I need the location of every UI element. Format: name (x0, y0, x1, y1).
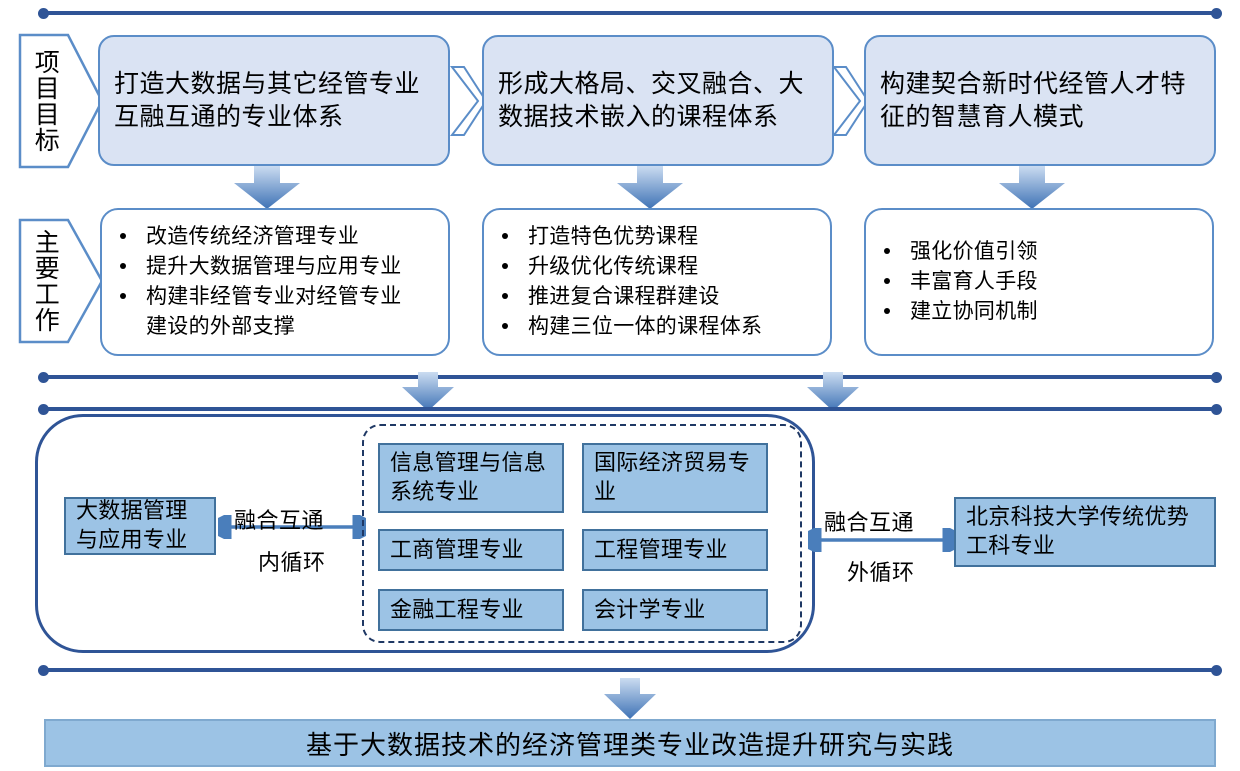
work-box-2[interactable]: 打造特色优势课程 升级优化传统课程 推进复合课程群建设 构建三位一体的课程体系 (482, 208, 832, 356)
major-box-financial-eng[interactable]: 金融工程专业 (378, 589, 564, 631)
divider-dot-third-right (1211, 404, 1222, 415)
divider-dot-bottom-right (1211, 665, 1222, 676)
goal-box-1-text: 打造大数据与其它经管专业互融互通的专业体系 (114, 68, 434, 134)
divider-dot-second-right (1211, 372, 1222, 383)
list-item: 强化价值引领 (876, 237, 1202, 267)
major-box-ustb-engineering-text: 北京科技大学传统优势工科专业 (966, 503, 1204, 560)
major-box-big-data[interactable]: 大数据管理与应用专业 (64, 497, 216, 555)
bullet-icon (502, 233, 508, 239)
divider-dot-second-left (38, 372, 49, 383)
work-item-text: 升级优化传统课程 (528, 255, 698, 278)
divider-rule-second (44, 375, 1216, 379)
work-item-text: 丰富育人手段 (910, 270, 1038, 293)
list-item: 建立协同机制 (876, 297, 1202, 327)
work-item-text: 构建三位一体的课程体系 (528, 315, 762, 338)
major-box-intl-trade[interactable]: 国际经济贸易专业 (582, 443, 768, 513)
major-box-financial-eng-text: 金融工程专业 (390, 596, 524, 625)
list-item: 升级优化传统课程 (494, 252, 820, 282)
goal-box-2[interactable]: 形成大格局、交叉融合、大数据技术嵌入的课程体系 (482, 35, 834, 166)
major-box-intl-trade-text: 国际经济贸易专业 (594, 449, 756, 506)
major-box-engineering-mgmt-text: 工程管理专业 (594, 536, 728, 565)
major-box-accounting-text: 会计学专业 (594, 596, 706, 625)
list-item: 建设的外部支撑 (112, 312, 438, 342)
outer-link-label-bottom: 外循环 (847, 555, 915, 587)
list-item: 推进复合课程群建设 (494, 282, 820, 312)
list-item: 打造特色优势课程 (494, 222, 820, 252)
outer-link-label-top: 融合互通 (824, 505, 914, 537)
goal-box-2-text: 形成大格局、交叉融合、大数据技术嵌入的课程体系 (498, 68, 818, 134)
down-arrow-banner (602, 678, 658, 725)
work-item-text: 推进复合课程群建设 (528, 285, 720, 308)
bullet-icon (120, 233, 126, 239)
divider-dot-bottom-left (38, 665, 49, 676)
divider-dot-top-right (1211, 8, 1222, 19)
work-item-text: 构建非经管专业对经管专业 (146, 285, 402, 308)
divider-dot-third-left (38, 404, 49, 415)
bottom-banner[interactable]: 基于大数据技术的经济管理类专业改造提升研究与实践 (44, 719, 1216, 767)
work-list-2: 打造特色优势课程 升级优化传统课程 推进复合课程群建设 构建三位一体的课程体系 (494, 222, 820, 341)
goal-box-1[interactable]: 打造大数据与其它经管专业互融互通的专业体系 (98, 35, 450, 166)
work-list-1: 改造传统经济管理专业 提升大数据管理与应用专业 构建非经管专业对经管专业 建设的… (112, 222, 438, 341)
divider-rule-bottom (44, 668, 1216, 672)
bullet-icon (502, 323, 508, 329)
bullet-icon (884, 278, 890, 284)
major-box-big-data-text: 大数据管理与应用专业 (76, 497, 204, 554)
bullet-icon (884, 308, 890, 314)
bullet-icon (502, 263, 508, 269)
major-box-business-admin-text: 工商管理专业 (390, 536, 524, 565)
divider-dot-top-left (38, 8, 49, 19)
inner-link-label-bottom: 内循环 (258, 545, 326, 577)
list-item: 丰富育人手段 (876, 267, 1202, 297)
work-item-text: 改造传统经济管理专业 (146, 225, 359, 248)
work-box-1[interactable]: 改造传统经济管理专业 提升大数据管理与应用专业 构建非经管专业对经管专业 建设的… (100, 208, 450, 356)
work-item-text: 打造特色优势课程 (528, 225, 698, 248)
goal-box-3-text: 构建契合新时代经管人才特征的智慧育人模式 (880, 68, 1200, 134)
work-item-text: 提升大数据管理与应用专业 (146, 255, 402, 278)
bullet-icon (120, 293, 126, 299)
list-item: 构建非经管专业对经管专业 (112, 282, 438, 312)
work-item-text: 强化价值引领 (910, 240, 1038, 263)
major-box-ustb-engineering[interactable]: 北京科技大学传统优势工科专业 (954, 497, 1216, 567)
row-label-work: 主要工作 (18, 218, 104, 344)
major-box-business-admin[interactable]: 工商管理专业 (378, 529, 564, 571)
bullet-icon (120, 263, 126, 269)
bullet-icon (884, 248, 890, 254)
inner-link-label-top: 融合互通 (234, 503, 324, 535)
bottom-banner-text: 基于大数据技术的经济管理类专业改造提升研究与实践 (306, 725, 954, 762)
divider-rule-top (44, 11, 1216, 15)
row-label-work-text: 主要工作 (32, 229, 58, 333)
row-label-goals-text: 项目目标 (32, 49, 58, 153)
major-box-engineering-mgmt[interactable]: 工程管理专业 (582, 529, 768, 571)
row-label-goals: 项目目标 (18, 33, 104, 169)
work-item-text: 建设的外部支撑 (146, 315, 295, 338)
bullet-icon (502, 293, 508, 299)
major-box-info-mgmt[interactable]: 信息管理与信息系统专业 (378, 443, 564, 513)
major-box-info-mgmt-text: 信息管理与信息系统专业 (390, 449, 552, 506)
list-item: 改造传统经济管理专业 (112, 222, 438, 252)
list-item: 构建三位一体的课程体系 (494, 312, 820, 342)
work-box-3[interactable]: 强化价值引领 丰富育人手段 建立协同机制 (864, 208, 1214, 356)
work-item-text: 建立协同机制 (910, 300, 1038, 323)
goal-box-3[interactable]: 构建契合新时代经管人才特征的智慧育人模式 (864, 35, 1216, 166)
major-box-accounting[interactable]: 会计学专业 (582, 589, 768, 631)
list-item: 提升大数据管理与应用专业 (112, 252, 438, 282)
work-list-3: 强化价值引领 丰富育人手段 建立协同机制 (876, 237, 1202, 326)
divider-rule-third (44, 407, 1216, 411)
diagram-canvas: 项目目标 打造大数据与其它经管专业互融互通的专业体系 形成大格局、交叉融合、大数… (0, 0, 1240, 771)
